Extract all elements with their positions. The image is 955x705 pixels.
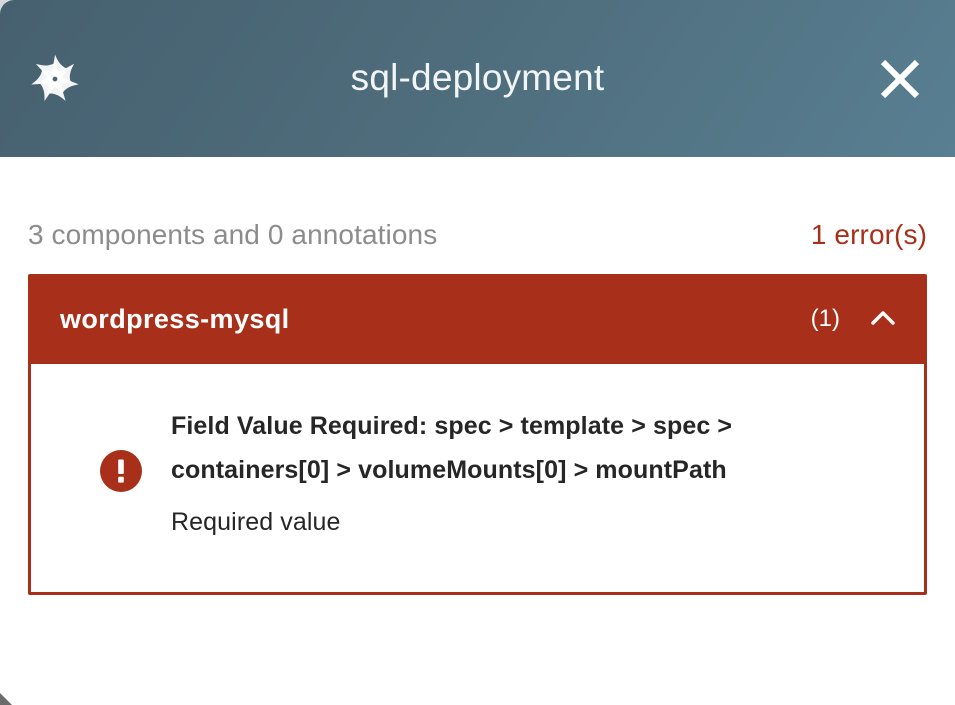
result-card-content: Field Value Required: spec > template > … <box>31 364 924 592</box>
issue-detail: Required value <box>171 500 894 544</box>
modal-body: 3 components and 0 annotations 1 error(s… <box>0 157 955 705</box>
exclamation-circle-icon <box>99 449 143 493</box>
error-count-label: 1 error(s) <box>811 218 927 252</box>
summary-row: 3 components and 0 annotations 1 error(s… <box>28 157 927 252</box>
modal-header: sql-deployment <box>0 0 955 157</box>
page-title: sql-deployment <box>0 50 955 106</box>
issue-message: Field Value Required: spec > template > … <box>171 404 791 492</box>
issue-text-block: Field Value Required: spec > template > … <box>171 402 894 544</box>
components-summary-label: 3 components and 0 annotations <box>28 218 437 252</box>
close-button[interactable] <box>873 52 927 106</box>
close-icon <box>877 56 923 102</box>
result-card-title: wordpress-mysql <box>60 304 811 335</box>
chevron-up-icon[interactable] <box>866 302 900 336</box>
validation-modal: sql-deployment 3 components and 0 annota… <box>0 0 955 705</box>
resize-handle[interactable] <box>0 687 18 705</box>
result-card-wordpress-mysql: wordpress-mysql (1) Fiel <box>28 274 927 595</box>
result-card-header[interactable]: wordpress-mysql (1) <box>28 274 927 364</box>
result-card-count: (1) <box>811 305 840 333</box>
